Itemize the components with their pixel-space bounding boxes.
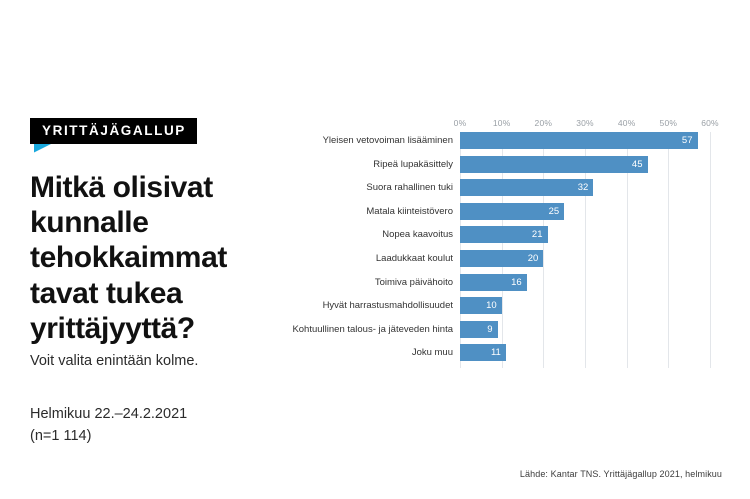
brand-badge: YRITTÄJÄGALLUP [30, 118, 197, 144]
fieldwork-period: Helmikuu 22.–24.2.2021 [30, 406, 187, 422]
gridline [710, 132, 711, 368]
bar-value-label: 32 [578, 179, 589, 196]
x-axis-tick-label: 40% [618, 118, 636, 128]
bar: 10 [460, 297, 502, 314]
bar-row: Joku muu11 [460, 344, 710, 368]
bar-row: Matala kiinteistövero25 [460, 203, 710, 227]
category-label: Matala kiinteistövero [248, 203, 460, 220]
plot-area: Yleisen vetovoiman lisääminen57Ripeä lup… [460, 132, 710, 368]
category-label: Joku muu [248, 344, 460, 361]
bar-row: Laadukkaat koulut20 [460, 250, 710, 274]
category-label: Nopea kaavoitus [248, 226, 460, 243]
brand-badge-label: YRITTÄJÄGALLUP [42, 123, 186, 138]
x-axis-tick-label: 10% [493, 118, 511, 128]
bar: 45 [460, 156, 648, 173]
x-axis-tick-label: 20% [535, 118, 553, 128]
x-axis-tick-label: 50% [660, 118, 678, 128]
bar-value-label: 9 [487, 321, 492, 338]
category-label: Ripeä lupakäsittely [248, 156, 460, 173]
bar-row: Yleisen vetovoiman lisääminen57 [460, 132, 710, 156]
bar-row: Toimiva päivähoito16 [460, 274, 710, 298]
bar: 25 [460, 203, 564, 220]
category-label: Kohtuullinen talous- ja jäteveden hinta [248, 321, 460, 338]
bar-value-label: 10 [486, 297, 497, 314]
bar-row: Nopea kaavoitus21 [460, 226, 710, 250]
bar-value-label: 16 [511, 274, 522, 291]
bar-value-label: 11 [491, 344, 501, 361]
bar-row: Ripeä lupakäsittely45 [460, 156, 710, 180]
bar: 57 [460, 132, 698, 149]
category-label: Suora rahallinen tuki [248, 179, 460, 196]
x-axis-tick-label: 30% [576, 118, 594, 128]
sample-size: (n=1 114) [30, 425, 290, 447]
bar: 9 [460, 321, 498, 338]
category-label: Laadukkaat koulut [248, 250, 460, 267]
bar: 21 [460, 226, 548, 243]
brand-flag-triangle-icon [34, 144, 52, 153]
bar-row: Suora rahallinen tuki32 [460, 179, 710, 203]
bar-value-label: 20 [528, 250, 539, 267]
source-note: Lähde: Kantar TNS. Yrittäjägallup 2021, … [520, 469, 722, 479]
bar: 16 [460, 274, 527, 291]
bar-value-label: 21 [532, 226, 543, 243]
x-axis-tick-label: 60% [701, 118, 719, 128]
bar: 32 [460, 179, 593, 196]
fieldwork-info: Helmikuu 22.–24.2.2021 (n=1 114) [30, 403, 290, 448]
bar-row: Kohtuullinen talous- ja jäteveden hinta9 [460, 321, 710, 345]
bar-value-label: 25 [549, 203, 560, 220]
x-axis-tick-label: 0% [454, 118, 467, 128]
bar: 20 [460, 250, 543, 267]
bar-row: Hyvät harrastusmahdollisuudet10 [460, 297, 710, 321]
bar-value-label: 57 [682, 132, 693, 149]
bar: 11 [460, 344, 506, 361]
bar-chart: 0%10%20%30%40%50%60% Yleisen vetovoiman … [250, 118, 730, 378]
bar-value-label: 45 [632, 156, 643, 173]
category-label: Yleisen vetovoiman lisääminen [248, 132, 460, 149]
category-label: Hyvät harrastusmahdollisuudet [248, 297, 460, 314]
x-axis: 0%10%20%30%40%50%60% [460, 118, 710, 132]
bar-rows: Yleisen vetovoiman lisääminen57Ripeä lup… [460, 132, 710, 368]
page-title: Mitkä olisivat kunnalle tehokkaimmat tav… [30, 170, 270, 347]
category-label: Toimiva päivähoito [248, 274, 460, 291]
